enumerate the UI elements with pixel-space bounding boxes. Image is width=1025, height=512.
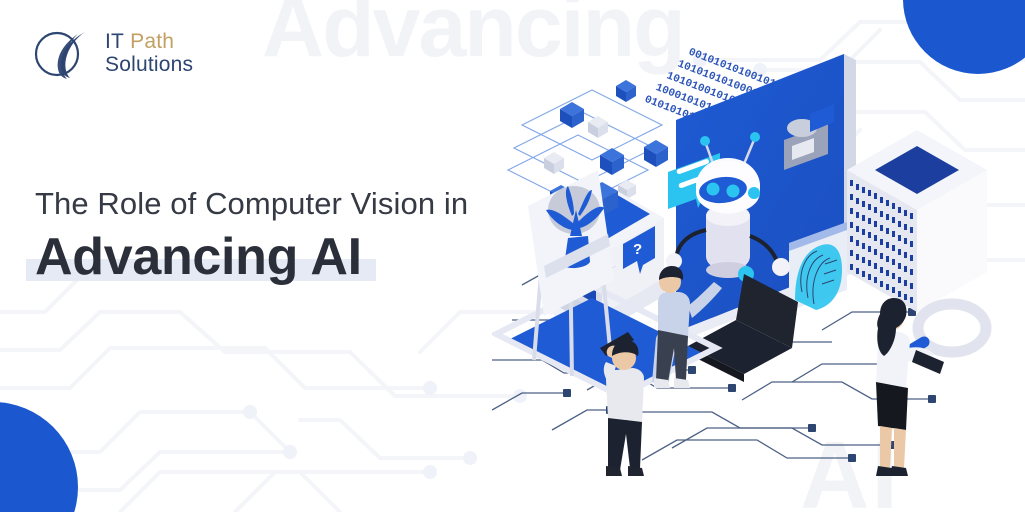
logo-text-it: IT (105, 30, 124, 53)
logo-text-path: Path (130, 30, 174, 53)
headline-line-two-wrapper: Advancing AI (35, 230, 362, 285)
ai-cube: AI (847, 130, 1025, 331)
banner: Advancing AI IT Path Solutions The Role … (0, 0, 1025, 512)
logo-line-one: IT Path (105, 31, 193, 54)
brand-logo[interactable]: IT Path Solutions (33, 26, 193, 82)
person-with-tablet (600, 332, 644, 476)
logo-wordmark: IT Path Solutions (105, 31, 193, 76)
it-path-solutions-logo-mark (33, 26, 95, 82)
bottom-left-blue-circle (0, 402, 78, 512)
question-mark-glyph: ? (633, 241, 642, 258)
hero-illustration: 0010101010010100010101 10101010100010101… (492, 30, 1025, 490)
logo-text-solutions: Solutions (105, 54, 193, 77)
headline-line-two: Advancing AI (35, 230, 362, 285)
woman-with-tablet (876, 298, 944, 476)
